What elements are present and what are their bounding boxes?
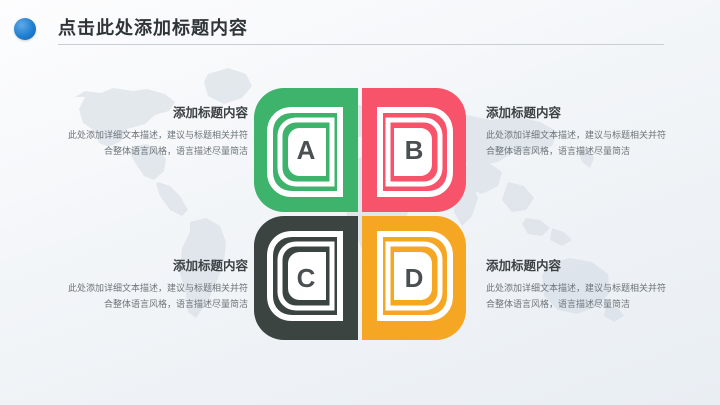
petal-b[interactable]: B: [362, 88, 466, 212]
text-block-c-body: 此处添加详细文本描述，建议与标题相关并符合整体语言风格，语言描述尽量简洁: [68, 281, 248, 313]
text-block-a-body: 此处添加详细文本描述，建议与标题相关并符合整体语言风格，语言描述尽量简洁: [68, 128, 248, 160]
text-block-b-body: 此处添加详细文本描述，建议与标题相关并符合整体语言风格，语言描述尽量简洁: [486, 128, 666, 160]
page-title: 点击此处添加标题内容: [58, 14, 248, 40]
petal-a[interactable]: A: [254, 88, 358, 212]
text-block-a-title: 添加标题内容: [68, 105, 248, 121]
petal-cluster: A B C: [254, 88, 466, 340]
header-divider: [58, 44, 664, 45]
petal-c[interactable]: C: [254, 216, 358, 340]
text-block-d-body: 此处添加详细文本描述，建议与标题相关并符合整体语言风格，语言描述尽量简洁: [486, 281, 666, 313]
text-block-c: 添加标题内容 此处添加详细文本描述，建议与标题相关并符合整体语言风格，语言描述尽…: [68, 258, 248, 313]
petal-letter-b: B: [405, 135, 424, 166]
text-block-c-title: 添加标题内容: [68, 258, 248, 274]
petal-letter-d: D: [405, 263, 424, 294]
petal-letter-a: A: [297, 135, 316, 166]
text-block-b-title: 添加标题内容: [486, 105, 666, 121]
text-block-a: 添加标题内容 此处添加详细文本描述，建议与标题相关并符合整体语言风格，语言描述尽…: [68, 105, 248, 160]
slide-header: 点击此处添加标题内容: [0, 0, 720, 50]
petal-letter-c: C: [297, 263, 316, 294]
text-block-d: 添加标题内容 此处添加详细文本描述，建议与标题相关并符合整体语言风格，语言描述尽…: [486, 258, 666, 313]
text-block-d-title: 添加标题内容: [486, 258, 666, 274]
slide: 点击此处添加标题内容 A B: [0, 0, 720, 405]
petal-d[interactable]: D: [362, 216, 466, 340]
circle-bullet-icon: [14, 18, 36, 40]
text-block-b: 添加标题内容 此处添加详细文本描述，建议与标题相关并符合整体语言风格，语言描述尽…: [486, 105, 666, 160]
